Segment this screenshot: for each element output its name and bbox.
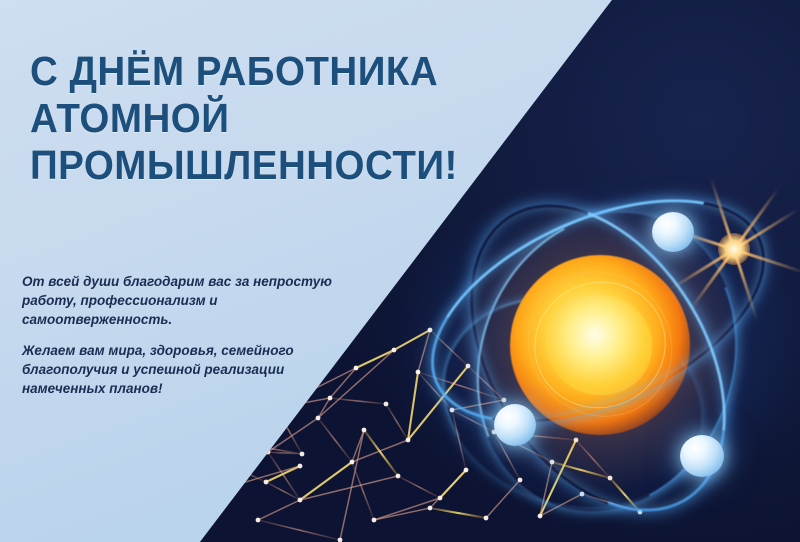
greeting-paragraph-1: От всей души благодарим вас за непростую… (22, 272, 342, 329)
page-title: С ДНЁМ РАБОТНИКА АТОМНОЙ ПРОМЫШЛЕННОСТИ! (30, 48, 453, 189)
headline-line-1: С ДНЁМ РАБОТНИКА (30, 48, 453, 95)
electron-bottom-right (680, 435, 724, 477)
star-flare-core (718, 233, 750, 265)
electron-left (494, 404, 536, 446)
greeting-body: От всей души благодарим вас за непростую… (22, 272, 342, 398)
headline-line-2: АТОМНОЙ (30, 95, 453, 142)
headline-line-3: ПРОМЫШЛЕННОСТИ! (30, 142, 453, 189)
greeting-card: С ДНЁМ РАБОТНИКА АТОМНОЙ ПРОМЫШЛЕННОСТИ!… (0, 0, 800, 542)
electron-top-right (652, 212, 694, 252)
greeting-paragraph-2: Желаем вам мира, здоровья, семейного бла… (22, 341, 342, 398)
